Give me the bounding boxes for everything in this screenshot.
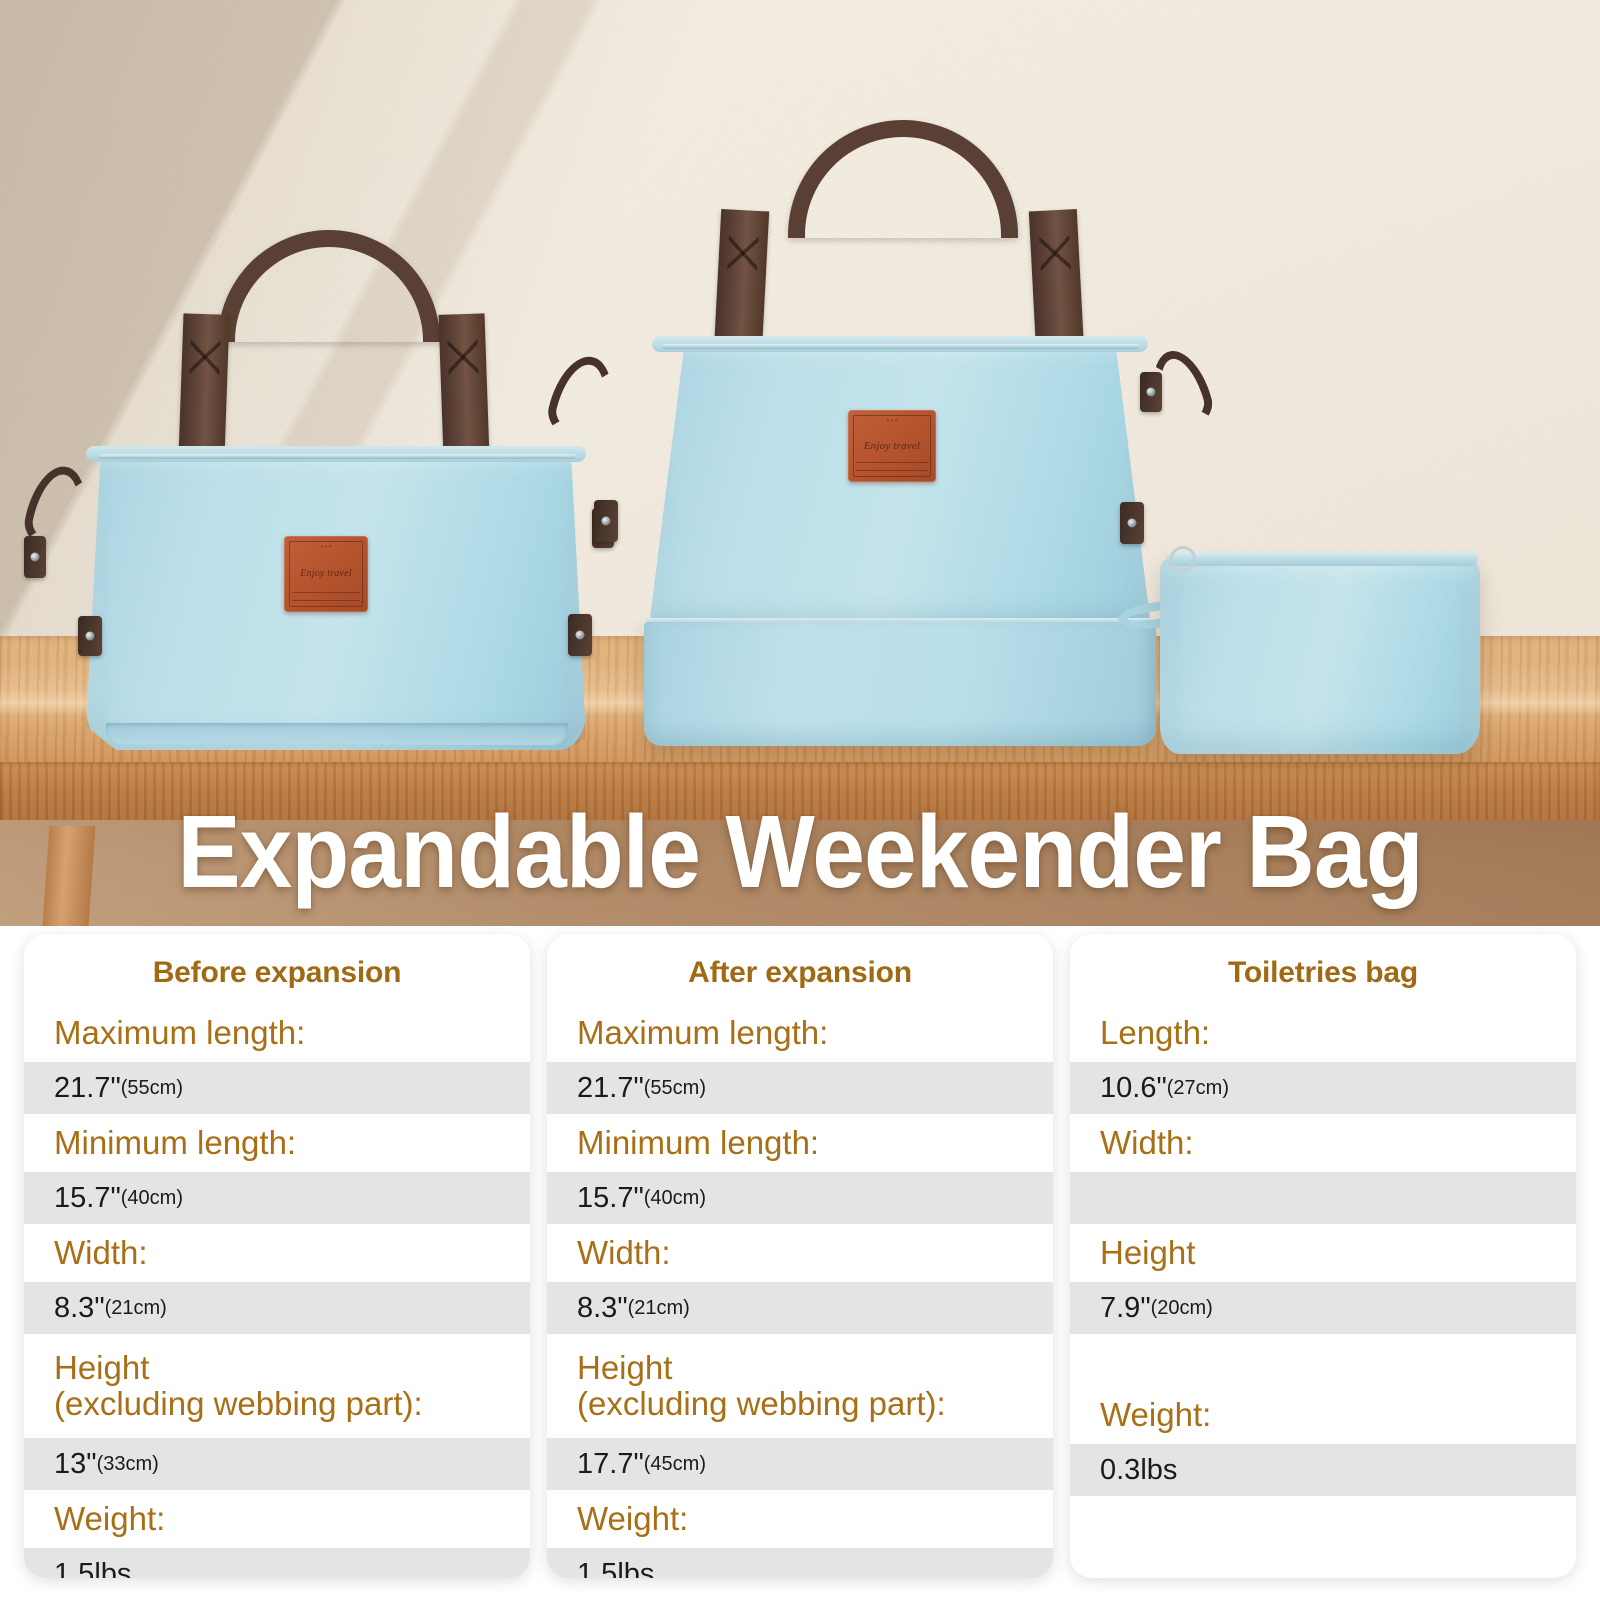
leather-brand-label: • • • Enjoy travel bbox=[284, 536, 368, 612]
spec-card-before-expansion: Before expansion Maximum length: 21.7"(5… bbox=[24, 934, 530, 1578]
zipper-pull-icon bbox=[1170, 546, 1196, 572]
spec-card-toiletries-bag: Toiletries bag Length: 10.6"(27cm) Width… bbox=[1070, 934, 1576, 1578]
spec-value: 0.3lbs bbox=[1070, 1444, 1576, 1496]
label-text: Enjoy travel bbox=[300, 567, 352, 581]
spec-label: Width: bbox=[547, 1224, 1053, 1282]
expansion-panel bbox=[644, 622, 1156, 746]
spec-value: 10.6"(27cm) bbox=[1070, 1062, 1576, 1114]
toiletries-pouch bbox=[1160, 540, 1600, 770]
spec-label: Minimum length: bbox=[24, 1114, 530, 1172]
spec-card-title: Before expansion bbox=[24, 934, 530, 1004]
spec-rows: Length: 10.6"(27cm) Width: Height 7.9"(2… bbox=[1070, 1004, 1576, 1578]
spec-value: 13"(33cm) bbox=[24, 1438, 530, 1490]
spec-rows: Maximum length: 21.7"(55cm) Minimum leng… bbox=[24, 1004, 530, 1578]
snap-tab-right-lower bbox=[568, 614, 592, 656]
spec-value: 1.5lbs bbox=[24, 1548, 530, 1578]
spec-cards-section: Before expansion Maximum length: 21.7"(5… bbox=[0, 926, 1600, 1600]
spec-label: Weight: bbox=[24, 1490, 530, 1548]
snap-tab-left bbox=[594, 500, 618, 542]
spec-value: 8.3"(21cm) bbox=[24, 1282, 530, 1334]
spec-label: Width: bbox=[1070, 1114, 1576, 1172]
spec-value: 21.7"(55cm) bbox=[547, 1062, 1053, 1114]
page-title: Expandable Weekender Bag bbox=[64, 800, 1536, 903]
zipper bbox=[662, 344, 1140, 349]
product-photo: • • • Enjoy travel • • • Enj bbox=[0, 0, 1600, 926]
spec-label: Maximum length: bbox=[24, 1004, 530, 1062]
spec-label: Maximum length: bbox=[547, 1004, 1053, 1062]
zipper bbox=[98, 454, 576, 459]
spec-label: Length: bbox=[1070, 1004, 1576, 1062]
leather-brand-label: • • • Enjoy travel bbox=[848, 410, 936, 482]
spec-value: 7.9"(20cm) bbox=[1070, 1282, 1576, 1334]
product-infographic: • • • Enjoy travel • • • Enj bbox=[0, 0, 1600, 1600]
spec-value-empty bbox=[1070, 1172, 1576, 1224]
pouch-body bbox=[1160, 558, 1480, 754]
label-text: Enjoy travel bbox=[864, 439, 920, 454]
snap-tab-left-lower bbox=[78, 616, 102, 656]
bag-body bbox=[650, 340, 1150, 630]
spec-label: Weight: bbox=[547, 1490, 1053, 1548]
spec-value: 8.3"(21cm) bbox=[547, 1282, 1053, 1334]
snap-tab-left-upper bbox=[24, 536, 46, 578]
side-pull-loop-right bbox=[1142, 344, 1218, 436]
spec-label: Height(excluding webbing part): bbox=[24, 1334, 530, 1438]
spec-card-title: After expansion bbox=[547, 934, 1053, 1004]
spec-card-title: Toiletries bag bbox=[1070, 934, 1576, 1004]
spec-label: Height(excluding webbing part): bbox=[547, 1334, 1053, 1438]
row-spacer bbox=[1070, 1334, 1576, 1386]
spec-card-after-expansion: After expansion Maximum length: 21.7"(55… bbox=[547, 934, 1053, 1578]
spec-value: 15.7"(40cm) bbox=[24, 1172, 530, 1224]
spec-value: 1.5lbs bbox=[547, 1548, 1053, 1578]
spec-value: 17.7"(45cm) bbox=[547, 1438, 1053, 1490]
handle-arc bbox=[788, 120, 1018, 238]
weekender-bag-expanded: • • • Enjoy travel bbox=[600, 110, 1220, 760]
spec-label: Minimum length: bbox=[547, 1114, 1053, 1172]
snap-tab-right-lower bbox=[1120, 502, 1144, 544]
pouch-top-lip bbox=[1166, 552, 1478, 566]
spec-rows: Maximum length: 21.7"(55cm) Minimum leng… bbox=[547, 1004, 1053, 1578]
weekender-bag-folded: • • • Enjoy travel bbox=[58, 218, 628, 758]
spec-label: Height bbox=[1070, 1224, 1576, 1282]
spec-label: Weight: bbox=[1070, 1386, 1576, 1444]
spec-label: Width: bbox=[24, 1224, 530, 1282]
handle-arc bbox=[218, 230, 440, 342]
bag-bottom-fold bbox=[106, 723, 568, 745]
spec-value: 21.7"(55cm) bbox=[24, 1062, 530, 1114]
spec-value: 15.7"(40cm) bbox=[547, 1172, 1053, 1224]
